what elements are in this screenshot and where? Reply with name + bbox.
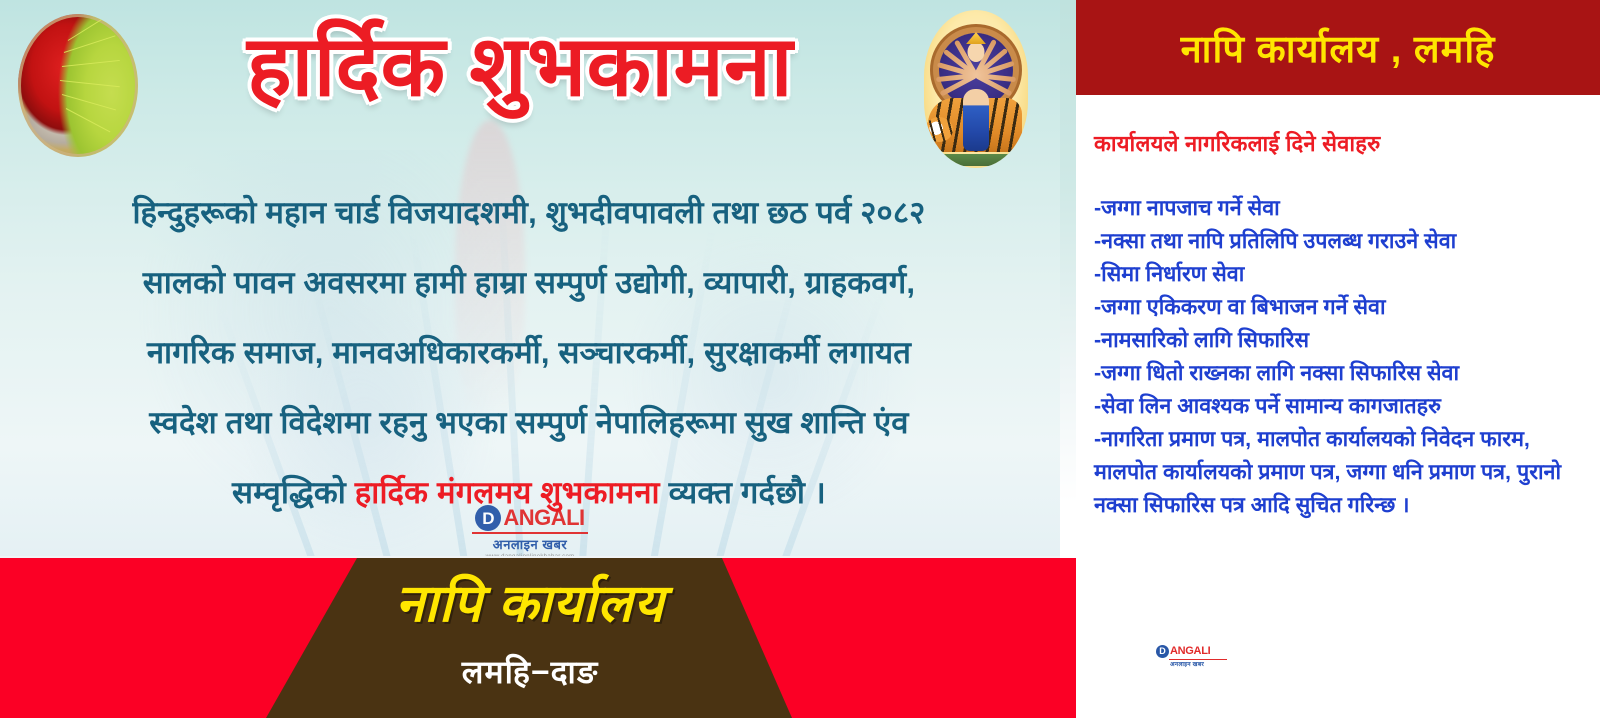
- right-header-title: नापि कार्यालय , लमहि: [1181, 22, 1496, 74]
- watermark-underline: [472, 532, 588, 534]
- message-final-after: व्यक्त गर्दछौ ।: [660, 475, 826, 510]
- message-final-before: सम्वृद्धिको: [232, 475, 355, 510]
- service-item: -सिमा निर्धारण सेवा: [1094, 258, 1596, 291]
- office-location: लमहि−दाङ: [0, 650, 1060, 693]
- office-name: नापि कार्यालय: [0, 576, 1060, 632]
- greeting-banner: हार्दिक शुभकामना हिन्दुहरूको महान चार्ड …: [0, 0, 1600, 718]
- greeting-message: हिन्दुहरूको महान चार्ड विजयादशमी, शुभदीव…: [14, 178, 1044, 528]
- deity-pedestal: [932, 154, 1018, 166]
- deity-body: [963, 89, 989, 151]
- service-item: -सेवा लिन आवश्यक पर्ने सामान्य कागजातहरु: [1094, 390, 1596, 423]
- dangali-watermark: D ANGALI अनलाइन खबर www.dangalionlinekha…: [440, 505, 620, 551]
- dangali-watermark-small: D ANGALI अनलाइन खबर: [1156, 645, 1242, 669]
- panel-left-edge-red: [1060, 558, 1076, 718]
- dangali-logo-icon: D: [1156, 645, 1169, 658]
- message-line: सालको पावन अवसरमा हामी हाम्रा सम्पुर्ण उ…: [14, 248, 1044, 318]
- message-line: नागरिक समाज, मानवअधिकारकर्मी, सञ्चारकर्म…: [14, 318, 1044, 388]
- watermark-subtitle: अनलाइन खबर: [440, 535, 620, 553]
- service-item: -जग्गा एकिकरण वा बिभाजन गर्ने सेवा: [1094, 291, 1596, 324]
- service-item: -जग्गा नापजाच गर्ने सेवा: [1094, 192, 1596, 225]
- watermark-wordmark: ANGALI: [1170, 646, 1210, 657]
- bottom-ribbon: नापि कार्यालय लमहि−दाङ: [0, 556, 1060, 718]
- services-list: -जग्गा नापजाच गर्ने सेवा -नक्सा तथा नापि…: [1094, 192, 1596, 522]
- service-item: -नामसारिको लागि सिफारिस: [1094, 324, 1596, 357]
- message-line: हिन्दुहरूको महान चार्ड विजयादशमी, शुभदीव…: [14, 178, 1044, 248]
- watermark-subtitle: अनलाइन खबर: [1170, 660, 1242, 668]
- message-line: स्वदेश तथा विदेशमा रहनु भएका सम्पुर्ण ने…: [14, 388, 1044, 458]
- dangali-logo-icon: D: [475, 505, 501, 531]
- services-heading: कार्यालयले नागरिकलाई दिने सेवाहरु: [1094, 128, 1381, 158]
- tika-jamara-plate-image: [18, 14, 138, 157]
- watermark-wordmark: ANGALI: [503, 507, 584, 529]
- goddess-durga-image: [924, 10, 1028, 168]
- service-item-paragraph: -नागरिता प्रमाण पत्र, मालपोत कार्यालयको …: [1094, 423, 1596, 522]
- tiger-head: [925, 117, 953, 142]
- left-greeting-panel: हार्दिक शुभकामना हिन्दुहरूको महान चार्ड …: [0, 0, 1060, 718]
- greeting-headline: हार्दिक शुभकामना: [150, 22, 890, 110]
- right-services-panel: नापि कार्यालय , लमहि कार्यालयले नागरिकला…: [1060, 0, 1600, 718]
- service-item: -नक्सा तथा नापि प्रतिलिपि उपलब्ध गराउने …: [1094, 225, 1596, 258]
- service-item: -जग्गा धितो राख्नका लागि नक्सा सिफारिस स…: [1094, 357, 1596, 390]
- deity-head: [968, 42, 985, 62]
- right-panel-header: नापि कार्यालय , लमहि: [1076, 0, 1600, 95]
